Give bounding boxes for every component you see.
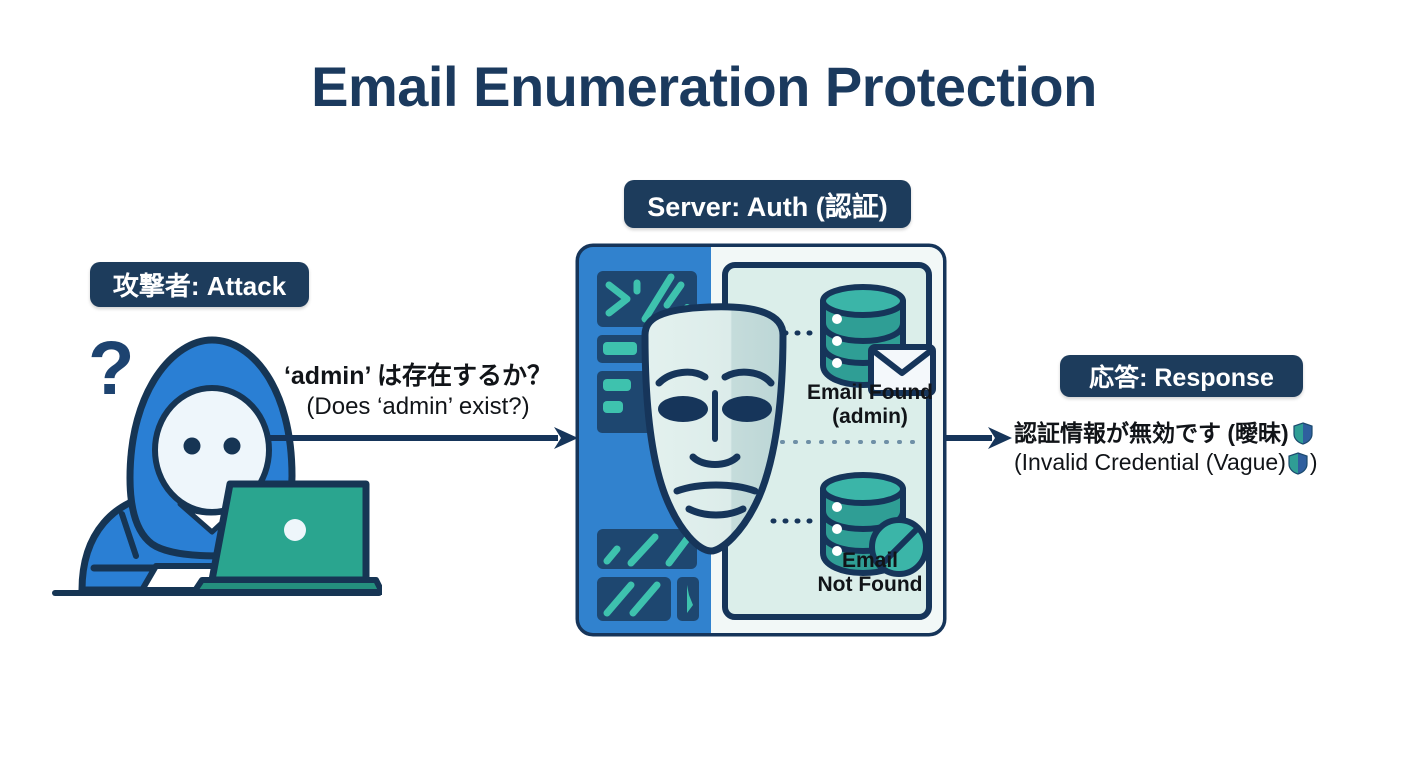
request-label: ‘admin’ は存在するか？ (Does ‘admin’ exist?)	[268, 361, 568, 421]
db-found-label-line2: (admin)	[800, 405, 940, 429]
response-label-en: (Invalid Credential (Vague) )	[1014, 448, 1374, 477]
arrow-request-icon	[262, 424, 584, 452]
db-found-label: Email Found (admin)	[800, 381, 940, 428]
db-found-label-line1: Email Found	[800, 381, 940, 405]
response-label-en-close: )	[1310, 448, 1318, 477]
response-label-en-text: (Invalid Credential (Vague)	[1014, 448, 1286, 477]
db-notfound-label-line1: Email	[790, 549, 950, 573]
shield-icon	[1293, 422, 1313, 445]
page-title: Email Enumeration Protection	[0, 54, 1408, 119]
db-notfound-label-line2: Not Found	[790, 573, 950, 597]
response-label-jp: 認証情報が無効です (曖昧)	[1014, 419, 1374, 448]
diagram-canvas: Email Enumeration Protection 攻撃者: Attack…	[0, 0, 1408, 768]
db-notfound-label: Email Not Found	[790, 549, 950, 596]
badge-attacker: 攻撃者: Attack	[90, 262, 309, 307]
badge-server: Server: Auth (認証)	[624, 180, 911, 228]
arrow-response-icon	[944, 424, 1016, 452]
badge-response: 応答: Response	[1060, 355, 1303, 397]
request-label-en: (Does ‘admin’ exist?)	[268, 392, 568, 421]
response-label: 認証情報が無効です (曖昧) (Invalid Credential (Vagu…	[1014, 419, 1374, 478]
shield-icon-2	[1288, 452, 1308, 475]
response-label-jp-text: 認証情報が無効です (曖昧)	[1014, 419, 1289, 448]
request-label-jp: ‘admin’ は存在するか？	[268, 361, 568, 392]
